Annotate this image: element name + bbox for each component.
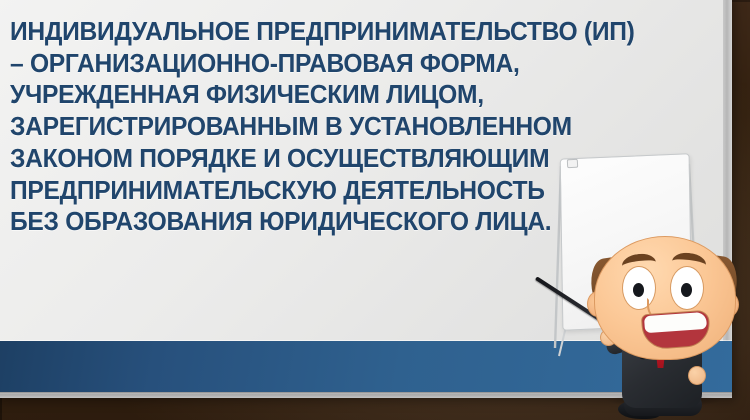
teeth bbox=[644, 312, 707, 333]
headline-line-4: ЗАРЕГИСТРИРОВАННЫМ В УСТАНОВЛЕННОМ bbox=[10, 112, 589, 144]
headline-line-3: УЧРЕЖДЕННАЯ ФИЗИЧЕСКИМ ЛИЦОМ, bbox=[10, 80, 589, 112]
headline-line-7: БЕЗ ОБРАЗОВАНИЯ ЮРИДИЧЕСКОГО ЛИЦА. bbox=[10, 207, 589, 239]
pupil-left bbox=[633, 283, 644, 297]
pupil-right bbox=[681, 283, 692, 297]
headline-line-6: ПРЕДПРИНИМАТЕЛЬСКУЮ ДЕЯТЕЛЬНОСТЬ bbox=[10, 176, 589, 208]
headline-line-1: ИНДИВИДУАЛЬНОЕ ПРЕДПРИНИМАТЕЛЬСТВО (ИП) bbox=[10, 17, 589, 49]
cartoon-presenter bbox=[588, 236, 738, 420]
headline-line-5: ЗАКОНОМ ПОРЯДКЕ И ОСУЩЕСТВЛЯЮЩИМ bbox=[10, 144, 589, 176]
slide-canvas: ИНДИВИДУАЛЬНОЕ ПРЕДПРИНИМАТЕЛЬСТВО (ИП) … bbox=[0, 0, 750, 420]
page-title: ИНДИВИДУАЛЬНОЕ ПРЕДПРИНИМАТЕЛЬСТВО (ИП) … bbox=[10, 17, 589, 239]
resting-hand bbox=[688, 366, 706, 385]
headline-line-2: – ОРГАНИЗАЦИОННО-ПРАВОВАЯ ФОРМА, bbox=[10, 49, 589, 81]
